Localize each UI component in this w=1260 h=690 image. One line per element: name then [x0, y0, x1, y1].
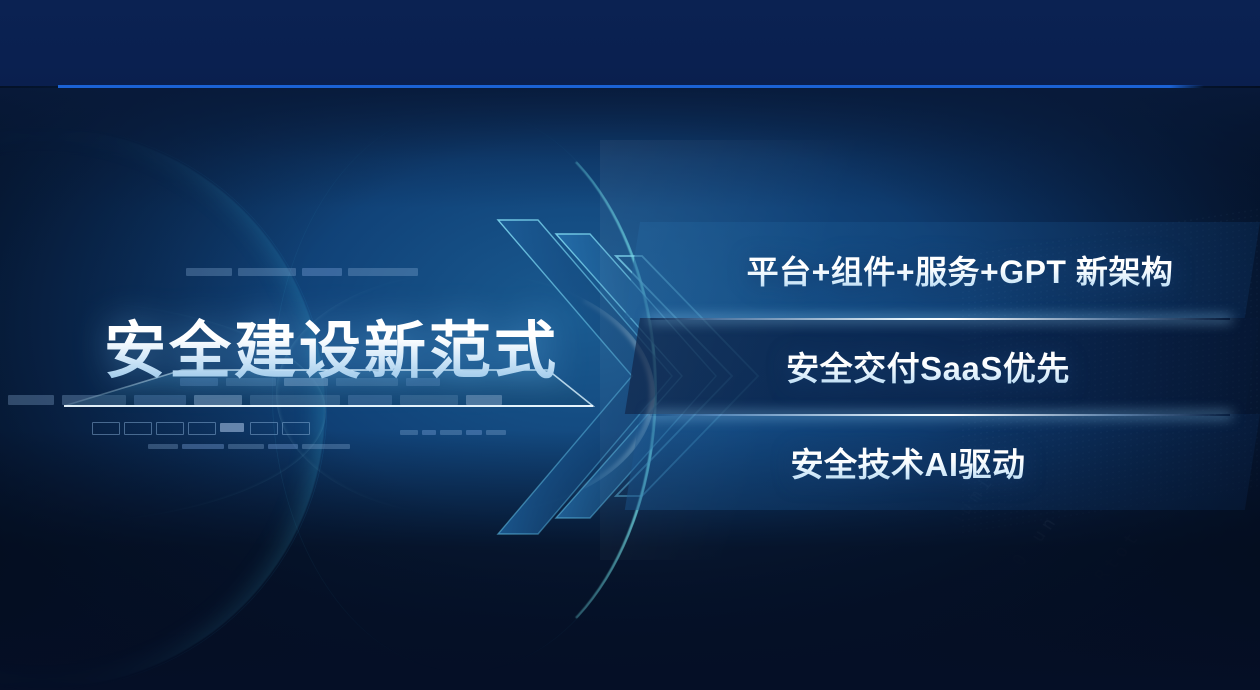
presentation-slide: 01 un+ 1011 o8 0 2 0 un+ Ruo u8 en o 41c…	[0, 0, 1260, 690]
pillar-item-3[interactable]: 安全技术AI驱动	[640, 414, 1260, 510]
pillar-label: 安全技术AI驱动	[791, 438, 1026, 486]
pillar-label: 安全交付SaaS优先	[786, 342, 1070, 390]
pillar-item-1[interactable]: 平台+组件+服务+GPT 新架构	[640, 222, 1260, 318]
slide-header	[0, 0, 1260, 86]
hero-headline-wrap: 安全建设新范式	[104, 300, 559, 390]
pillar-item-2[interactable]: 安全交付SaaS优先	[640, 318, 1260, 414]
background-top-fade	[0, 88, 1260, 208]
pillars-panel: 平台+组件+服务+GPT 新架构 安全交付SaaS优先 安全技术AI驱动	[640, 222, 1260, 540]
hero-headline: 安全建设新范式	[104, 300, 559, 390]
pillar-label: 平台+组件+服务+GPT 新架构	[747, 247, 1174, 293]
header-accent-rule	[58, 85, 1204, 88]
